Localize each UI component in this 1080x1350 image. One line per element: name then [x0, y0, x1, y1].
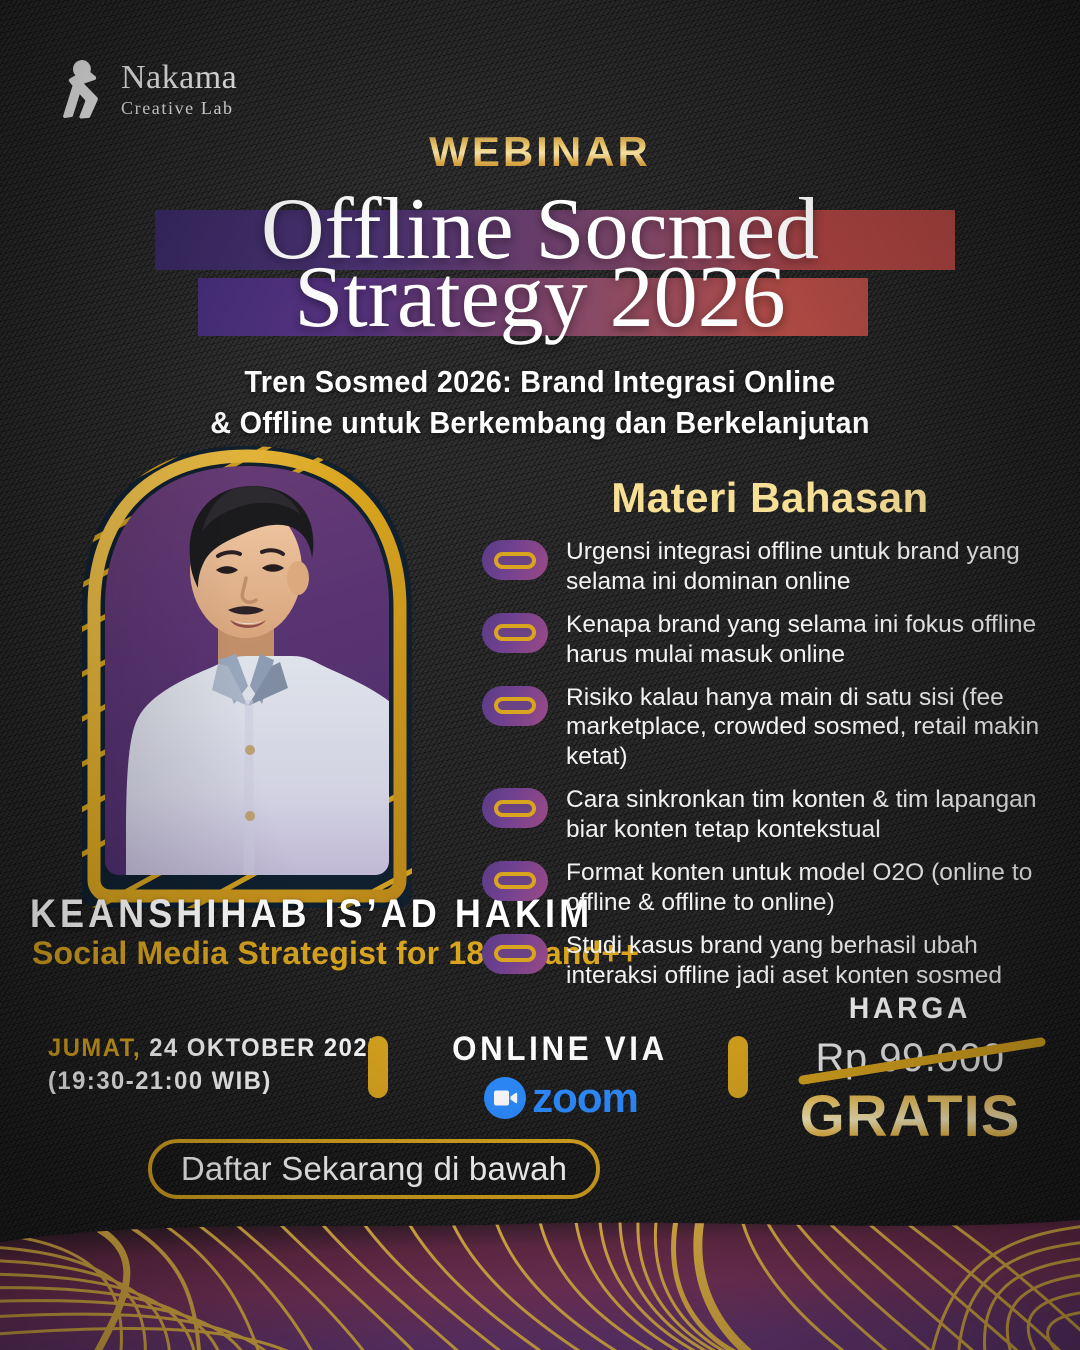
schedule-date: 24 OKTOBER 2025 [149, 1034, 383, 1062]
zoom-camera-icon [482, 1075, 528, 1121]
list-item: Studi kasus brand yang berhasil ubah int… [482, 930, 1058, 991]
bullet-pill-icon [482, 934, 548, 974]
speaker-portrait [22, 438, 472, 908]
title-block: Offline Socmed Strategy 2026 [0, 180, 1080, 350]
list-item: Format konten untuk model O2O (online to… [482, 857, 1058, 918]
price-label: HARGA [778, 992, 1041, 1026]
speaker-photo-frame [22, 438, 472, 908]
schedule-time: (19:30-21:00 WIB) [48, 1065, 362, 1098]
platform-label: ONLINE VIA [440, 1030, 679, 1069]
strikethrough-icon [803, 1036, 1053, 1086]
brand-name: Nakama [121, 61, 237, 95]
materi-heading: Materi Bahasan [480, 474, 1060, 522]
kicker-webinar: WEBINAR [0, 128, 1080, 176]
bullet-pill-icon [482, 788, 548, 828]
materi-item-text: Kenapa brand yang selama ini fokus offli… [566, 609, 1058, 670]
list-item: Urgensi integrasi offline untuk brand ya… [482, 536, 1058, 597]
subtitle: Tren Sosmed 2026: Brand Integrasi Online… [38, 362, 1042, 444]
schedule-day: JUMAT, [48, 1034, 141, 1062]
register-cta-label: Daftar Sekarang di bawah [181, 1150, 567, 1188]
platform-block: ONLINE VIA zoom [430, 1030, 690, 1121]
divider-left [368, 1036, 388, 1098]
materi-item-text: Format konten untuk model O2O (online to… [566, 857, 1058, 918]
brand-logo[interactable]: Nakama Creative Lab [62, 58, 237, 120]
zoom-wordmark: zoom [532, 1077, 638, 1119]
webinar-poster: Nakama Creative Lab WEBINAR Offline Socm… [0, 0, 1080, 1350]
list-item: Kenapa brand yang selama ini fokus offli… [482, 609, 1058, 670]
materi-item-text: Cara sinkronkan tim konten & tim lapanga… [566, 784, 1058, 845]
schedule-date-line: JUMAT, 24 OKTOBER 2025 [48, 1032, 362, 1065]
materi-item-text: Studi kasus brand yang berhasil ubah int… [566, 930, 1058, 991]
materi-item-text: Urgensi integrasi offline untuk brand ya… [566, 536, 1058, 597]
zoom-logo[interactable]: zoom [430, 1075, 690, 1121]
bullet-pill-icon [482, 861, 548, 901]
price-block: HARGA Rp.99.000 GRATIS [770, 992, 1050, 1150]
price-original-wrap: Rp.99.000 [815, 1036, 1004, 1081]
subtitle-line-1: Tren Sosmed 2026: Brand Integrasi Online [38, 362, 1042, 403]
title-line-2: Strategy 2026 [0, 254, 1080, 342]
ninja-figure-icon [62, 58, 108, 120]
list-item: Cara sinkronkan tim konten & tim lapanga… [482, 784, 1058, 845]
materi-item-text: Risiko kalau hanya main di satu sisi (fe… [566, 682, 1058, 773]
divider-right [728, 1036, 748, 1098]
materi-list: Urgensi integrasi offline untuk brand ya… [482, 536, 1058, 1002]
bullet-pill-icon [482, 613, 548, 653]
price-final: GRATIS [770, 1083, 1050, 1150]
schedule-block: JUMAT, 24 OKTOBER 2025 (19:30-21:00 WIB) [48, 1032, 378, 1098]
list-item: Risiko kalau hanya main di satu sisi (fe… [482, 682, 1058, 773]
bullet-pill-icon [482, 686, 548, 726]
bottom-wave-decoration [0, 1190, 1080, 1350]
brand-tagline: Creative Lab [121, 99, 237, 117]
bullet-pill-icon [482, 540, 548, 580]
